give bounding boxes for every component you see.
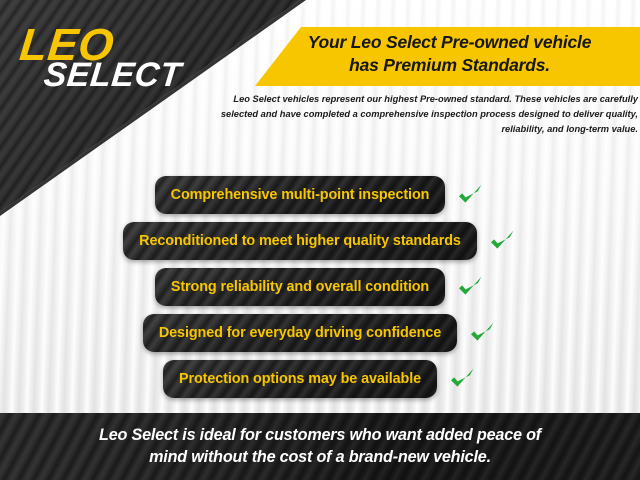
footer-line-1: Leo Select is ideal for customers who wa… xyxy=(20,425,620,447)
feature-item: Reconditioned to meet higher quality sta… xyxy=(123,222,517,260)
check-icon xyxy=(447,364,477,394)
check-icon xyxy=(487,226,517,256)
feature-pill: Comprehensive multi-point inspection xyxy=(155,176,446,214)
intro-paragraph: Leo Select vehicles represent our highes… xyxy=(218,92,638,137)
slide-canvas: LEO SELECT Your Leo Select Pre-owned veh… xyxy=(0,0,640,480)
feature-item: Protection options may be available xyxy=(163,360,477,398)
check-icon xyxy=(455,180,485,210)
footer-banner: Leo Select is ideal for customers who wa… xyxy=(0,413,640,480)
footer-line-2: mind without the cost of a brand-new veh… xyxy=(20,447,620,469)
feature-item: Strong reliability and overall condition xyxy=(155,268,485,306)
check-icon xyxy=(467,318,497,348)
page-title: Your Leo Select Pre-owned vehicle has Pr… xyxy=(262,31,637,77)
feature-pill: Reconditioned to meet higher quality sta… xyxy=(123,222,477,260)
footer-text: Leo Select is ideal for customers who wa… xyxy=(20,425,620,468)
feature-pill: Strong reliability and overall condition xyxy=(155,268,445,306)
feature-item: Comprehensive multi-point inspection xyxy=(155,176,486,214)
feature-row: Reconditioned to meet higher quality sta… xyxy=(0,218,640,264)
feature-row: Protection options may be available xyxy=(0,356,640,402)
leo-select-logo: LEO SELECT xyxy=(20,22,220,102)
feature-row: Strong reliability and overall condition xyxy=(0,264,640,310)
headline-line-2: has Premium Standards. xyxy=(262,54,637,77)
feature-row: Designed for everyday driving confidence xyxy=(0,310,640,356)
feature-row: Comprehensive multi-point inspection xyxy=(0,172,640,218)
feature-item: Designed for everyday driving confidence xyxy=(143,314,497,352)
feature-pill: Protection options may be available xyxy=(163,360,437,398)
feature-pill: Designed for everyday driving confidence xyxy=(143,314,457,352)
headline-line-1: Your Leo Select Pre-owned vehicle xyxy=(262,31,637,54)
logo-secondary-text: SELECT xyxy=(42,58,183,92)
check-icon xyxy=(455,272,485,302)
feature-list: Comprehensive multi-point inspectionReco… xyxy=(0,172,640,402)
